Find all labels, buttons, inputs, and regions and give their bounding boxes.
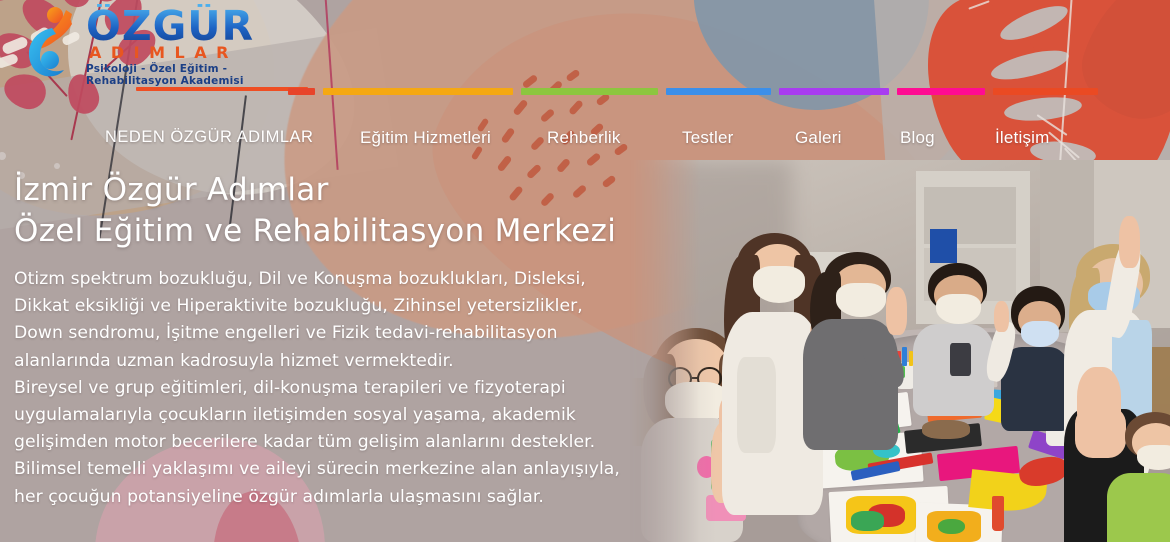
nav-item-1[interactable]: Eğitim Hizmetleri	[360, 128, 491, 148]
divider-segment-5	[897, 88, 985, 95]
landing-page: ÖZGÜR ADIMLAR Psikoloji - Özel Eğitim - …	[0, 0, 1170, 542]
logo-subword: ADIMLAR	[89, 44, 312, 62]
logo-underline-rule	[136, 87, 308, 91]
divider-gap	[771, 88, 779, 95]
divider-segment-6	[993, 88, 1098, 95]
site-logo[interactable]: ÖZGÜR ADIMLAR Psikoloji - Özel Eğitim - …	[22, 2, 312, 94]
decorative-dot	[54, 163, 60, 169]
hero-section: İzmir Özgür Adımlar Özel Eğitim ve Rehab…	[14, 170, 654, 511]
hero-paragraph-0: Otizm spektrum bozukluğu, Dil ve Konuşma…	[14, 266, 634, 375]
divider-gap	[315, 88, 323, 95]
hero-paragraph-1: Bireysel ve grup eğitimleri, dil-konuşma…	[14, 375, 634, 457]
divider-segment-2	[521, 88, 658, 95]
hero-description: Otizm spektrum bozukluğu, Dil ve Konuşma…	[14, 266, 634, 511]
nav-item-4[interactable]: Galeri	[795, 128, 842, 148]
logo-tagline: Psikoloji - Özel Eğitim - Rehabilitasyon…	[86, 63, 312, 87]
classroom-children-art-activity-photo	[630, 160, 1170, 542]
page-title: İzmir Özgür Adımlar Özel Eğitim ve Rehab…	[14, 170, 654, 252]
color-divider	[288, 88, 1170, 95]
divider-segment-1	[323, 88, 513, 95]
logo-word: ÖZGÜR	[86, 4, 312, 48]
divider-gap	[889, 88, 897, 95]
divider-segment-0	[288, 88, 315, 95]
divider-gap	[985, 88, 993, 95]
nav-item-6[interactable]: İletişim	[995, 128, 1050, 148]
nav-item-3[interactable]: Testler	[682, 128, 733, 148]
hero-paragraph-2: Bilimsel temelli yaklaşımı ve aileyi sür…	[14, 456, 634, 510]
nav-item-0[interactable]: NEDEN ÖZGÜR ADIMLAR	[105, 128, 313, 147]
divider-segment-3	[666, 88, 771, 95]
ozgur-adimlar-figures-logo-icon	[22, 6, 84, 80]
divider-gap	[658, 88, 666, 95]
main-navigation[interactable]: NEDEN ÖZGÜR ADIMLAREğitim HizmetleriRehb…	[0, 118, 1170, 158]
nav-item-2[interactable]: Rehberlik	[547, 128, 621, 148]
divider-segment-4	[779, 88, 889, 95]
divider-gap	[513, 88, 521, 95]
nav-item-5[interactable]: Blog	[900, 128, 935, 148]
page-title-line-2: Özel Eğitim ve Rehabilitasyon Merkezi	[14, 213, 616, 249]
child-figure	[1116, 412, 1170, 542]
page-title-line-1: İzmir Özgür Adımlar	[14, 172, 329, 208]
child-figure	[803, 252, 922, 451]
